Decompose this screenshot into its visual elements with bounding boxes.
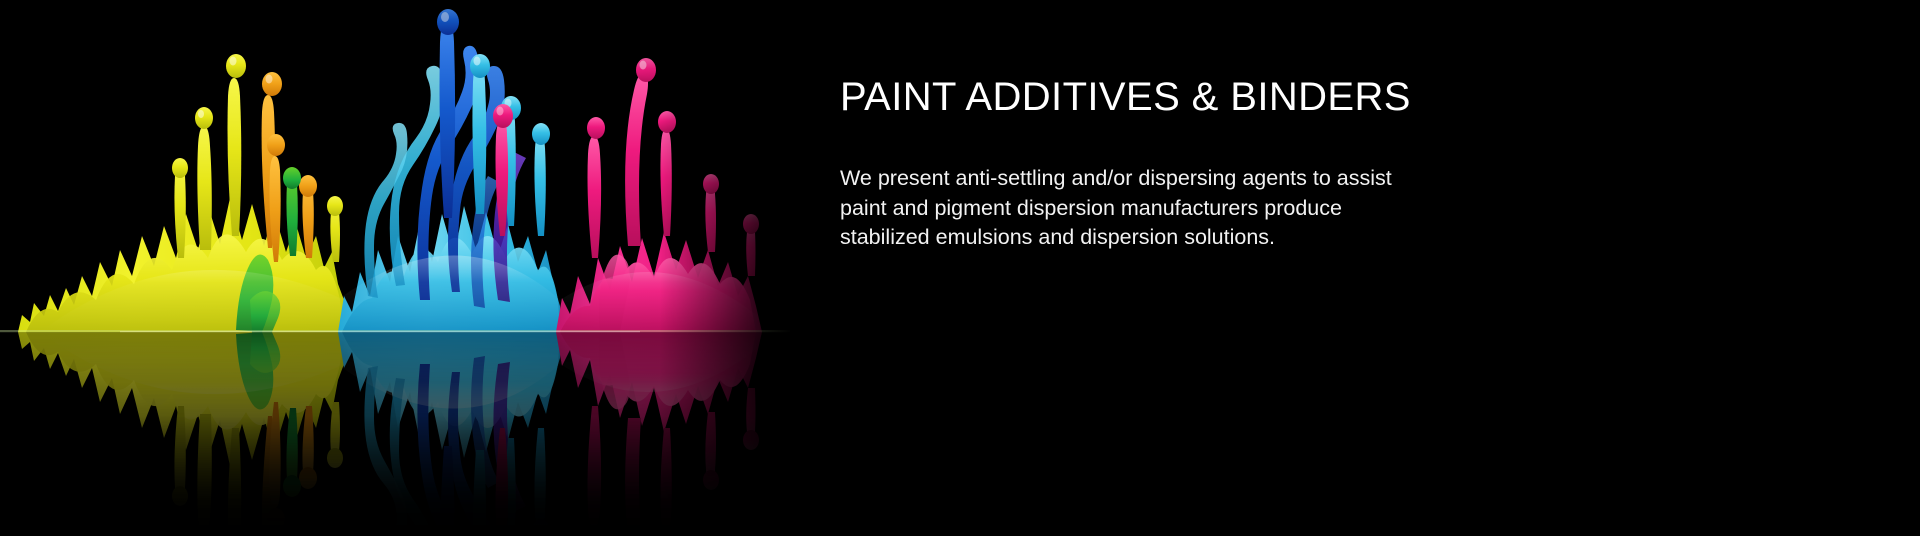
paint-splash-illustration — [0, 0, 810, 536]
reflection-fade — [0, 332, 810, 536]
banner-description: We present anti-settling and/or dispersi… — [840, 164, 1500, 253]
description-line-2: paint and pigment dispersion manufacture… — [840, 194, 1500, 224]
paint-additives-banner: PAINT ADDITIVES & BINDERS We present ant… — [0, 0, 1920, 536]
banner-text-block: PAINT ADDITIVES & BINDERS We present ant… — [840, 0, 1540, 536]
paint-splash-image — [0, 0, 810, 536]
splash-upper-body — [18, 9, 762, 332]
waterline-specular — [120, 331, 640, 332]
description-line-1: We present anti-settling and/or dispersi… — [840, 164, 1500, 194]
description-line-3: stabilized emulsions and dispersion solu… — [840, 223, 1500, 253]
page-title: PAINT ADDITIVES & BINDERS — [840, 74, 1411, 120]
